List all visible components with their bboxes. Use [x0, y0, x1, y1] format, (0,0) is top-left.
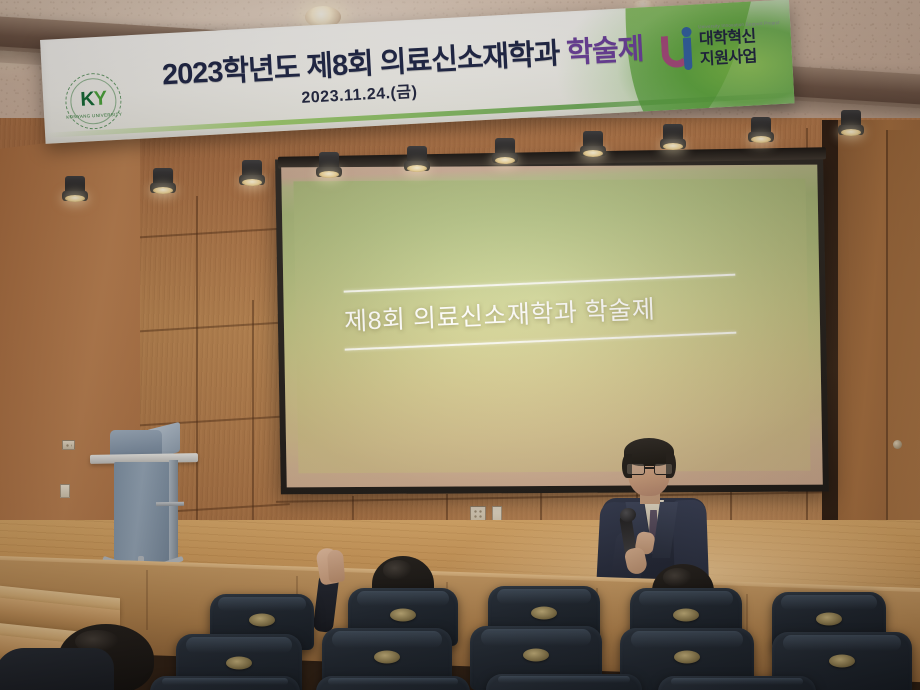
seat-badge [816, 612, 842, 625]
seat-badge [226, 656, 252, 669]
wall-outlet-plate[interactable] [62, 440, 75, 450]
auditorium-seat[interactable] [486, 674, 642, 690]
auditorium-seat[interactable] [658, 676, 816, 690]
wall-seam [252, 300, 254, 526]
slide-content: 제8회 의료신소재학과 학술제 [311, 274, 782, 352]
banner-title-accent: 학술제 [566, 33, 645, 69]
ky-university-logo: KY KONYANG UNIVERSITY [64, 72, 123, 131]
ky-logo-k: K [80, 88, 95, 111]
auditorium-seat[interactable] [316, 676, 470, 690]
uj-logo-tiny-text: University Innovation Support Project [698, 20, 780, 29]
lectern-shelf [156, 502, 184, 506]
university-innovation-support-logo: University Innovation Support Project 대학… [658, 16, 777, 84]
seat-badge [829, 654, 855, 667]
stage-face-seam [146, 570, 148, 630]
uj-logo-line1: 대학혁신 [699, 29, 757, 48]
auditorium-seat[interactable] [150, 676, 300, 690]
seat-badge [531, 606, 557, 619]
ky-logo-y: Y [93, 88, 107, 111]
door-knob-icon[interactable] [893, 440, 902, 449]
uj-logo-j-shape [683, 38, 693, 70]
glasses-icon [626, 463, 674, 475]
seat-badge [673, 608, 699, 621]
audience-shoulders [0, 648, 114, 690]
slide-title: 제8회 의료신소재학과 학술제 [343, 286, 744, 338]
seat-badge [374, 651, 400, 664]
ky-logo-mark: KY [65, 88, 122, 111]
audience-raised-hand [316, 548, 350, 634]
seat-badge [249, 613, 275, 626]
seat-badge [390, 608, 416, 621]
lectern-rail [169, 460, 178, 566]
uj-logo-line2: 지원사업 [700, 49, 758, 68]
seat-badge [674, 651, 700, 664]
wall-switch-plate[interactable] [60, 484, 70, 498]
hand-palm-icon [327, 549, 345, 582]
photograph-canvas: 제8회 의료신소재학과 학술제 KY KONYANG UNIVERSITY 20… [0, 0, 920, 690]
banner-date: 2023.11.24.(금) [301, 78, 418, 108]
seat-badge [523, 649, 549, 662]
lectern-body [114, 462, 170, 562]
